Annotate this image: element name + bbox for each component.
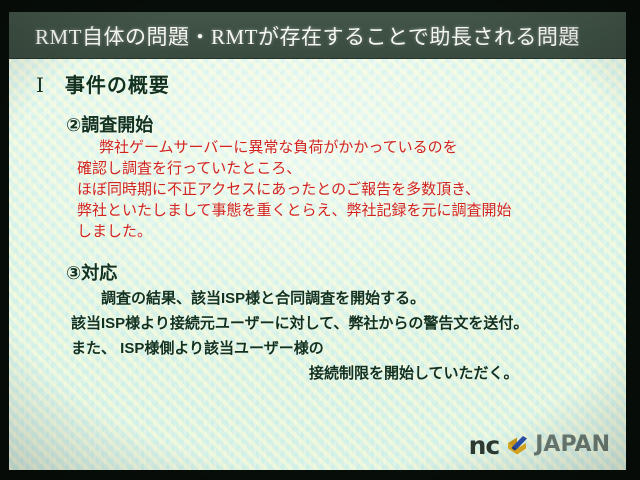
logo-japan-text: JAPAN: [535, 434, 610, 456]
slide-title-bar: RMT自体の問題・RMTが存在することで助長される問題: [9, 12, 626, 59]
body-line: 接続制限を開始していただく。: [71, 361, 621, 386]
subsection-heading-2: ②調査開始: [66, 111, 153, 137]
body-line: しました。: [77, 221, 617, 242]
body-line: ほぼ同時期に不正アクセスにあったとのご報告を多数頂き、: [77, 179, 617, 200]
nc-cube-arrow-icon: [504, 432, 530, 458]
nc-japan-logo: nc JAPAN: [469, 432, 610, 458]
body-line: 弊社といたしまして事態を重くとらえ、弊社記録を元に調査開始: [77, 200, 617, 221]
body-line: 確認し調査を行っていたところ、: [77, 158, 617, 179]
body-line: 該当ISP様より接続元ユーザーに対して、弊社からの警告文を送付。: [71, 311, 621, 336]
subsection-body-2: 弊社ゲームサーバーに異常な負荷がかかっているのを 確認し調査を行っていたところ、…: [77, 137, 617, 242]
presentation-slide: RMT自体の問題・RMTが存在することで助長される問題 Ⅰ事件の概要 ②調査開始…: [9, 12, 626, 470]
slide-body: Ⅰ事件の概要 ②調査開始 弊社ゲームサーバーに異常な負荷がかかっているのを 確認…: [9, 59, 626, 470]
section-heading-main: Ⅰ事件の概要: [36, 69, 170, 98]
subsection-body-3: 調査の結果、該当ISP様と合同調査を開始する。 該当ISP様より接続元ユーザーに…: [71, 286, 621, 386]
body-line: 弊社ゲームサーバーに異常な負荷がかかっているのを: [77, 137, 617, 158]
section-heading-text: 事件の概要: [65, 75, 170, 97]
body-line: また、 ISP様側より該当ユーザー様の: [71, 336, 621, 361]
body-line: 調査の結果、該当ISP様と合同調査を開始する。: [71, 286, 621, 311]
projected-slide-photo: RMT自体の問題・RMTが存在することで助長される問題 Ⅰ事件の概要 ②調査開始…: [0, 0, 640, 480]
logo-nc-text: nc: [469, 433, 500, 458]
subsection-heading-3: ③対応: [66, 259, 117, 285]
slide-title: RMT自体の問題・RMTが存在することで助長される問題: [9, 21, 580, 51]
section-numeral: Ⅰ: [36, 75, 45, 97]
